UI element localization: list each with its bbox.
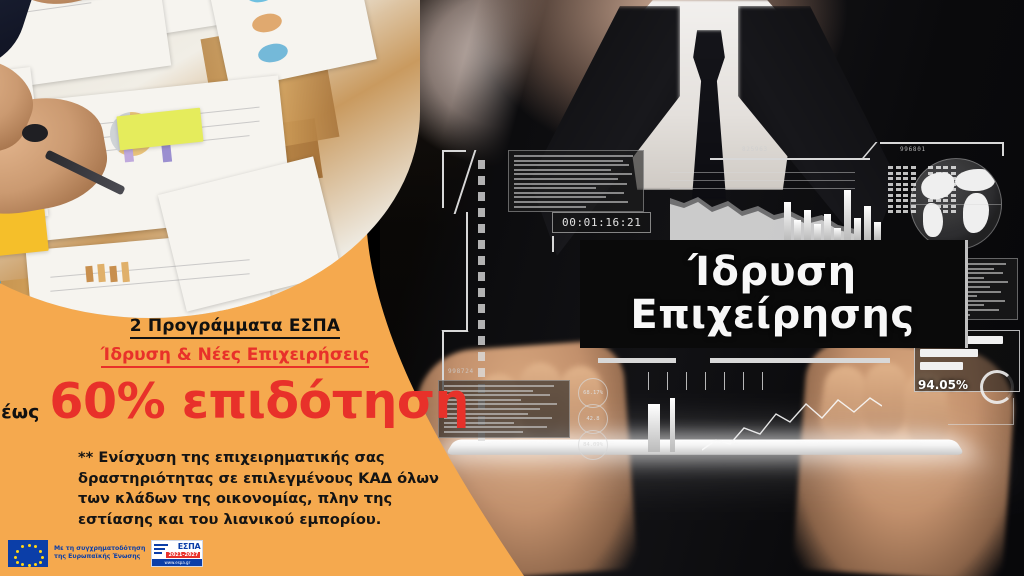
hud-globe-icon	[910, 158, 1002, 250]
hud-code-top-left: 825963	[742, 146, 768, 153]
espa-logo: ΕΣΠΑ 2021-2027 www.espa.gr	[151, 540, 203, 567]
headline-programs-text: 2 Προγράμματα ΕΣΠΑ	[130, 316, 341, 339]
offer-note: ** Ενίσχυση της επιχειρηματικής σας δρασ…	[78, 448, 458, 531]
offer-line: έως 60% επιδότηση	[0, 377, 470, 426]
hud-text-block-top	[508, 150, 644, 212]
eu-cofunding-line2: της Ευρωπαϊκής Ένωσης	[54, 553, 145, 561]
hud-headline-plate: Ίδρυση Επιχείρησης	[580, 240, 968, 348]
offer-prefix: έως	[1, 401, 39, 423]
eu-cofunding-line1: Με τη συγχρηματοδότηση	[54, 545, 145, 553]
hud-headline-line1: Ίδρυση	[688, 252, 856, 293]
hud-percentage-readout: 94.05%	[918, 378, 968, 392]
eu-flag-icon	[8, 540, 48, 567]
eu-cofunding-text: Με τη συγχρηματοδότηση της Ευρωπαϊκής Έν…	[54, 545, 145, 562]
espa-logo-years: 2021-2027	[166, 552, 200, 558]
holographic-hud: 00:01:16:21 825963 996801	[380, 0, 1024, 470]
offer-amount: 60% επιδότηση	[49, 377, 469, 426]
hud-timecode: 00:01:16:21	[552, 212, 651, 233]
hud-code-top-right: 996801	[900, 146, 926, 153]
headline-programs: 2 Προγράμματα ΕΣΠΑ	[0, 316, 470, 336]
funding-logo-strip: Με τη συγχρηματοδότηση της Ευρωπαϊκής Έν…	[8, 538, 203, 568]
hud-progress-ring	[980, 370, 1014, 404]
businessman-tablet-photo: 00:01:16:21 825963 996801	[380, 0, 1024, 576]
espa-logo-name: ΕΣΠΑ	[178, 542, 201, 551]
hud-line-chart	[702, 392, 882, 454]
promo-copy: 2 Προγράμματα ΕΣΠΑ Ίδρυση & Νέες Επιχειρ…	[0, 316, 470, 531]
hud-headline-line2: Επιχείρησης	[630, 295, 914, 336]
promo-banner: 00:01:16:21 825963 996801	[0, 0, 1024, 576]
espa-logo-url: www.espa.gr	[152, 559, 202, 566]
hud-bar-chart	[784, 184, 881, 240]
hud-tick-scale	[648, 372, 763, 390]
headline-subtitle-text: Ίδρυση & Νέες Επιχειρήσεις	[101, 345, 369, 368]
hud-gauge-3: 84.09%	[578, 430, 608, 460]
headline-subtitle: Ίδρυση & Νέες Επιχειρήσεις	[0, 345, 470, 365]
hud-bar-pair	[648, 398, 675, 452]
